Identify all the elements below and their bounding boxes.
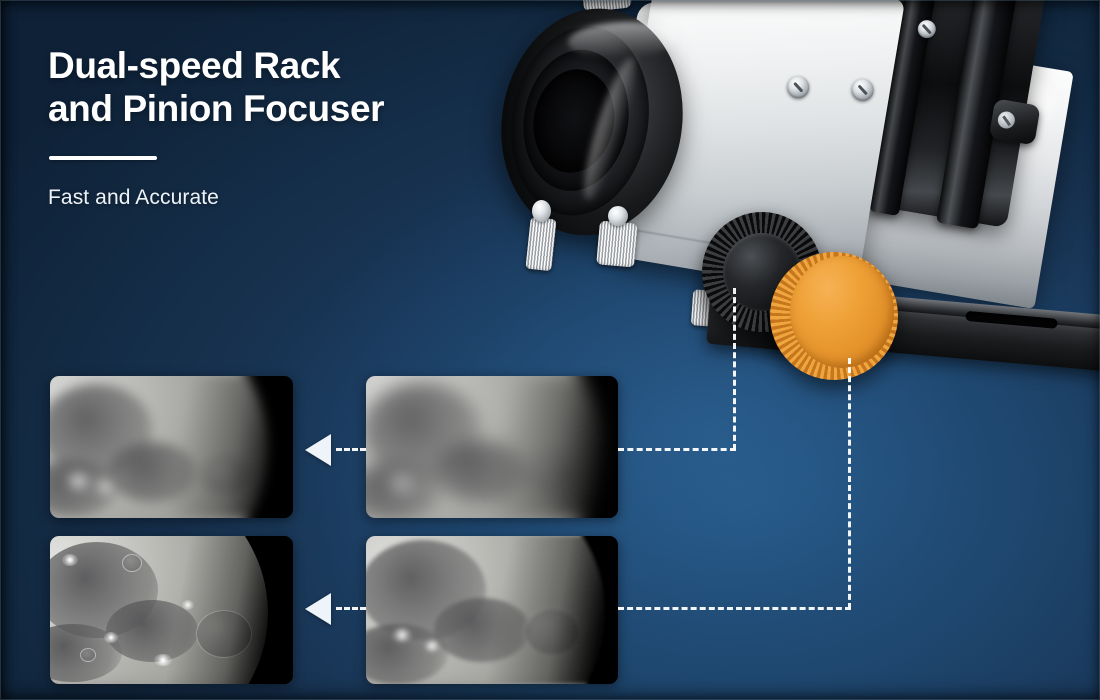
connector-vertical-fine: [848, 358, 851, 609]
fine-focus-knob: [770, 252, 898, 380]
connector-dash-fine-arrow: [336, 607, 366, 610]
focuser-screw-2: [850, 77, 875, 102]
moon-thumb-sharp-after[interactable]: [50, 536, 293, 684]
thumbscrew-left: [525, 217, 556, 271]
headline-line-2: and Pinion Focuser: [48, 88, 384, 129]
moon-thumb-sharp-before[interactable]: [366, 536, 618, 684]
connector-dash-coarse-arrow: [336, 448, 366, 451]
connector-vertical-coarse: [733, 288, 736, 450]
thumbscrew-mid: [596, 220, 638, 267]
moon-thumb-blurry-after[interactable]: [50, 376, 293, 518]
ring-hinge: [989, 98, 1041, 145]
arrow-left-icon-fine: [305, 593, 331, 625]
thumbscrew-mid-stem: [608, 206, 628, 226]
moon-render: [366, 376, 618, 518]
moon-render: [366, 536, 618, 684]
headline-line-1: Dual-speed Rack: [48, 45, 340, 86]
telescope-focuser-image: [470, 0, 1100, 440]
moon-render: [50, 376, 293, 518]
subtitle: Fast and Accurate: [48, 186, 518, 210]
banner-canvas: Dual-speed Rack and Pinion Focuser Fast …: [0, 0, 1100, 700]
arrow-left-icon-coarse: [305, 434, 331, 466]
moon-thumb-blurry-before[interactable]: [366, 376, 618, 518]
moon-render: [50, 536, 293, 684]
connector-horizontal-coarse: [618, 448, 736, 451]
focuser-screw-1: [786, 75, 811, 100]
headline-block: Dual-speed Rack and Pinion Focuser Fast …: [48, 44, 518, 210]
connector-horizontal-fine: [618, 607, 851, 610]
page-title: Dual-speed Rack and Pinion Focuser: [48, 44, 518, 131]
hinge-screw: [997, 110, 1017, 130]
thumbscrew-left-stem: [532, 200, 551, 222]
fine-focus-knob-face: [790, 256, 894, 368]
title-divider: [49, 156, 157, 160]
